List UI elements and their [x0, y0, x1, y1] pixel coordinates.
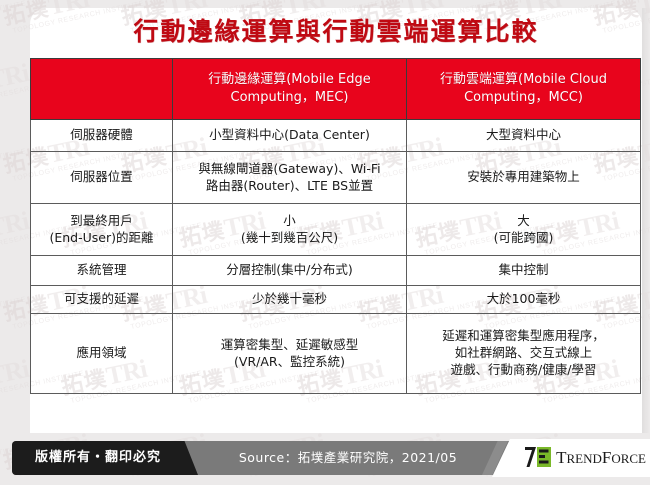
trendforce-logo-icon: [525, 447, 551, 467]
header-mec-line2: Computing，MEC): [181, 89, 398, 107]
cell-mcc-server-hardware: 大型資料中心: [407, 120, 641, 152]
cell-line: (可能跨國): [411, 230, 636, 247]
watermark-tile: 拓墣TRiTOPOLOGY RESEARCH INSTITUTE: [0, 119, 27, 184]
cell-mec-end-user-distance: 小 (幾十到幾百公尺): [173, 204, 407, 256]
cell-mcc-system-management: 集中控制: [407, 256, 641, 286]
header-cell-mcc: 行動雲端運算(Mobile Cloud Computing，MCC): [407, 59, 641, 120]
cell-line: 遊戲、行動商務/健康/學習: [411, 362, 636, 379]
logo-t: T: [556, 448, 566, 467]
cell-line: (End-User)的距離: [35, 230, 168, 247]
trendforce-wordmark: TRENDFORCE: [556, 449, 646, 466]
header-mec-line1: 行動邊緣運算(Mobile Edge: [181, 71, 398, 89]
cell-line: 到最終用戶: [35, 213, 168, 230]
logo-rend: REND: [566, 451, 601, 466]
watermark-en-text: TOPOLOGY RESEARCH INSTITUTE: [0, 148, 27, 183]
footer-bar: 版權所有・翻印必究 Source：拓墣產業研究院，2021/05 TRENDFO…: [0, 439, 650, 477]
watermark-en-text: TOPOLOGY RESEARCH INSTITUTE: [0, 296, 27, 331]
watermark-tri-text: TRi: [0, 354, 31, 391]
row-label-supported-latency: 可支援的延遲: [31, 286, 173, 314]
header-corner-cell: [31, 59, 173, 120]
cell-line: (幾十到幾百公尺): [177, 230, 402, 247]
table-header-row: 行動邊緣運算(Mobile Edge Computing，MEC) 行動雲端運算…: [31, 59, 641, 120]
table-row: 應用領域 運算密集型、延遲敏感型 (VR/AR、監控系統) 延遲和運算密集型應用…: [31, 314, 641, 394]
cell-mcc-server-location: 安裝於專用建築物上: [407, 152, 641, 204]
watermark-tile: 拓墣TRiTOPOLOGY RESEARCH INSTITUTE: [0, 267, 27, 332]
cell-mcc-supported-latency: 大於100毫秒: [407, 286, 641, 314]
watermark-en-text: TOPOLOGY RESEARCH INSTITUTE: [0, 0, 27, 35]
cell-line: 運算密集型、延遲敏感型: [177, 337, 402, 354]
table-row: 伺服器硬體 小型資料中心(Data Center) 大型資料中心: [31, 120, 641, 152]
cell-mcc-end-user-distance: 大 (可能跨國): [407, 204, 641, 256]
table-row: 可支援的延遲 少於幾十毫秒 大於100毫秒: [31, 286, 641, 314]
footer-logo-area: TRENDFORCE: [492, 439, 650, 477]
page-title: 行動邊緣運算與行動雲端運算比較: [30, 12, 642, 48]
row-label-server-hardware: 伺服器硬體: [31, 120, 173, 152]
cell-line: 延遲和運算密集型應用程序，: [411, 328, 636, 345]
source-caption: Source：拓墣產業研究院，2021/05: [198, 441, 498, 475]
row-label-application-domain: 應用領域: [31, 314, 173, 394]
trendforce-logo[interactable]: TRENDFORCE: [525, 447, 646, 467]
header-mcc-line1: 行動雲端運算(Mobile Cloud: [415, 71, 632, 89]
header-mcc-line2: Computing，MCC): [415, 89, 632, 107]
logo-orce: ORCE: [611, 451, 646, 466]
slide-root: 拓墣TRiTOPOLOGY RESEARCH INSTITUTE拓墣TRiTOP…: [0, 0, 650, 485]
watermark-tile: 拓墣TRiTOPOLOGY RESEARCH INSTITUTE: [0, 0, 27, 36]
cell-mec-server-location: 與無線閘道器(Gateway)、Wi-Fi 路由器(Router)、LTE BS…: [173, 152, 407, 204]
table-row: 系統管理 分層控制(集中/分布式) 集中控制: [31, 256, 641, 286]
cell-line: (VR/AR、監控系統): [177, 354, 402, 371]
cell-mec-system-management: 分層控制(集中/分布式): [173, 256, 407, 286]
card-edge-shadow: [642, 8, 650, 433]
cell-line: 與無線閘道器(Gateway)、Wi-Fi: [177, 161, 402, 178]
row-label-end-user-distance: 到最終用戶 (End-User)的距離: [31, 204, 173, 256]
cell-line: 路由器(Router)、LTE BS並置: [177, 178, 402, 195]
cell-line: 小: [177, 213, 402, 230]
header-cell-mec: 行動邊緣運算(Mobile Edge Computing，MEC): [173, 59, 407, 120]
watermark-tri-text: TRi: [0, 58, 31, 95]
copyright-notice: 版權所有・翻印必究: [22, 441, 174, 475]
comparison-table: 行動邊緣運算(Mobile Edge Computing，MEC) 行動雲端運算…: [30, 58, 641, 394]
table-row: 到最終用戶 (End-User)的距離 小 (幾十到幾百公尺) 大 (可能跨國): [31, 204, 641, 256]
logo-f: F: [602, 448, 611, 467]
table-row: 伺服器位置 與無線閘道器(Gateway)、Wi-Fi 路由器(Router)、…: [31, 152, 641, 204]
watermark-tri-text: TRi: [0, 206, 31, 243]
cell-mec-server-hardware: 小型資料中心(Data Center): [173, 120, 407, 152]
row-label-system-management: 系統管理: [31, 256, 173, 286]
cell-line: 大: [411, 213, 636, 230]
cell-mec-supported-latency: 少於幾十毫秒: [173, 286, 407, 314]
cell-mcc-application-domain: 延遲和運算密集型應用程序， 如社群網路、交互式線上 遊戲、行動商務/健康/學習: [407, 314, 641, 394]
row-label-server-location: 伺服器位置: [31, 152, 173, 204]
cell-mec-application-domain: 運算密集型、延遲敏感型 (VR/AR、監控系統): [173, 314, 407, 394]
cell-line: 如社群網路、交互式線上: [411, 345, 636, 362]
